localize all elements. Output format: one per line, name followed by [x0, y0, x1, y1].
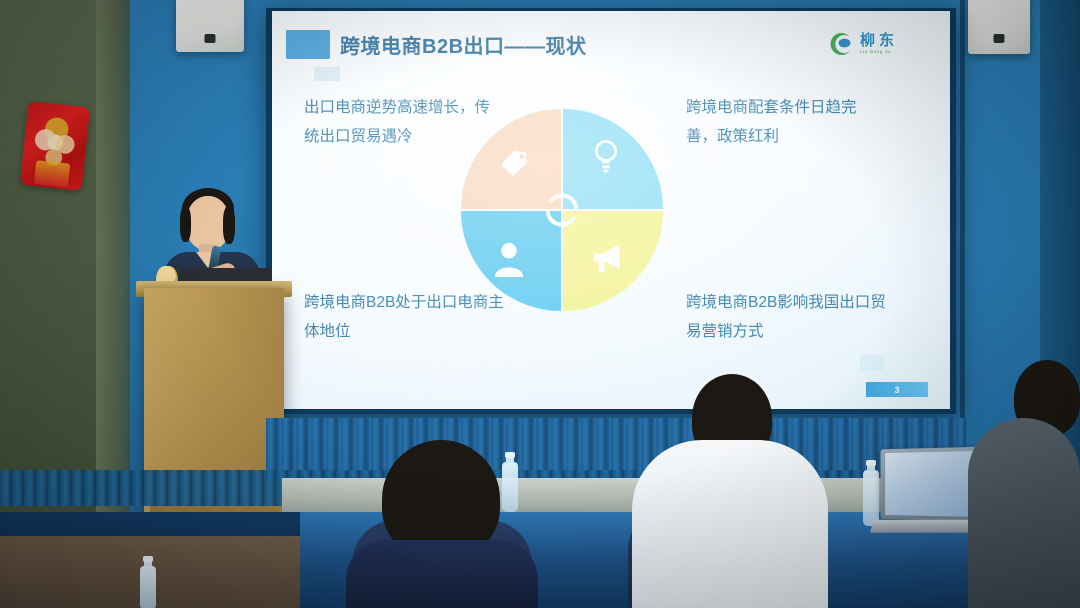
four-quadrant-circle-diagram — [461, 109, 663, 311]
attendee-shirt — [632, 440, 828, 608]
logo-name-en: Liu Dong Ju — [860, 50, 898, 55]
slide-corner-accent — [860, 355, 884, 371]
presentation-photo: 跨境电商B2B出口——现状 柳东 Liu Dong Ju 出口电商逆势高速增长，… — [0, 0, 1080, 608]
refresh-cycle-icon — [539, 187, 585, 233]
presenter-hair-left — [180, 206, 191, 242]
logo-name-cn: 柳东 — [860, 33, 898, 48]
bottle-cap-icon — [143, 556, 153, 562]
speaker-grill-icon — [205, 34, 216, 43]
quadrant-text-bottom-right: 跨境电商B2B影响我国出口贸易营销方式 — [686, 289, 886, 346]
logo-swoosh-icon — [830, 32, 855, 57]
bottle-cap-icon — [505, 452, 515, 458]
speaker-grill-icon — [994, 34, 1005, 43]
water-bottle-foreground — [140, 566, 156, 608]
page-number: 3 — [894, 385, 899, 395]
attendee-shoulders — [346, 540, 538, 608]
lightbulb-icon — [591, 139, 621, 175]
title-accent-block — [286, 30, 330, 59]
tag-icon — [497, 145, 531, 179]
wall-speaker-right-icon — [968, 0, 1030, 54]
water-bottle-left — [502, 462, 518, 512]
slide-page-indicator: 3 — [866, 382, 928, 397]
title-glow-accent — [314, 67, 340, 81]
quadrant-text-top-right: 跨境电商配套条件日趋完善，政策红利 — [686, 94, 886, 151]
presentation-slide: 跨境电商B2B出口——现状 柳东 Liu Dong Ju 出口电商逆势高速增长，… — [272, 11, 950, 409]
attendee-shirt — [968, 418, 1080, 608]
slide-title: 跨境电商B2B出口——现状 — [340, 30, 587, 59]
logo-text: 柳东 Liu Dong Ju — [860, 33, 898, 55]
person-icon — [493, 241, 525, 277]
wall-speaker-left-icon — [176, 0, 244, 52]
company-logo: 柳东 Liu Dong Ju — [830, 27, 926, 61]
presenter-hair-right — [223, 206, 235, 244]
wall-seam-right — [960, 0, 965, 430]
megaphone-icon — [589, 241, 627, 275]
chinese-new-year-ornament — [20, 101, 90, 191]
